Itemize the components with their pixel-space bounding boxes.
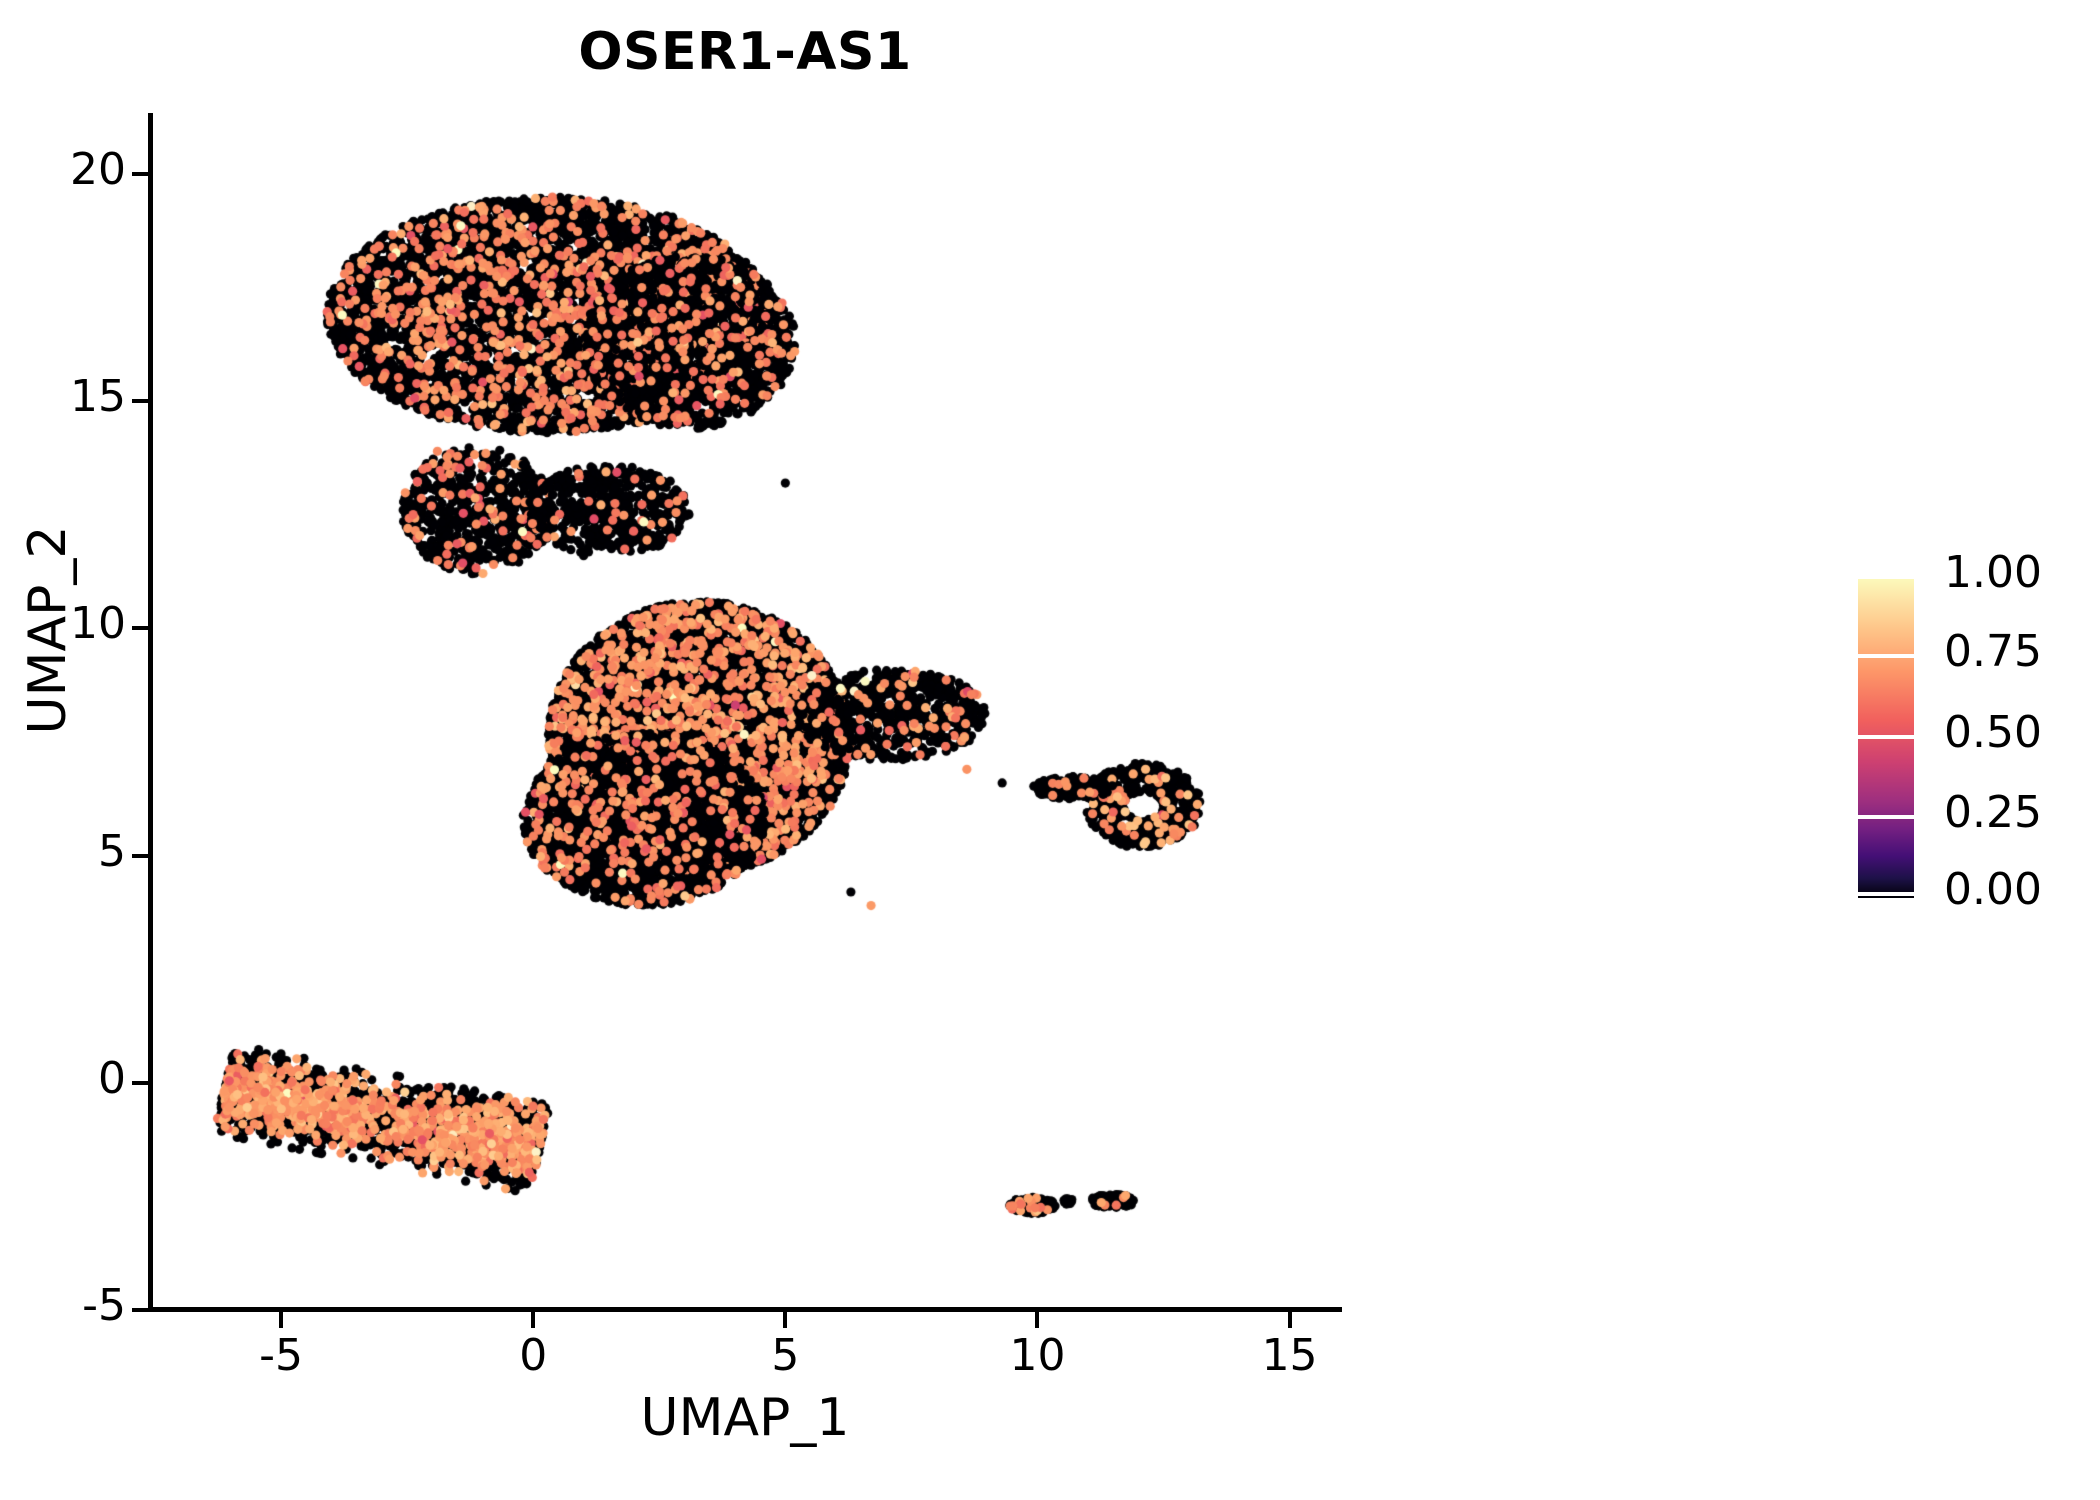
y-tick-mark <box>132 626 148 630</box>
y-tick-label: 0 <box>98 1053 126 1104</box>
x-tick-label: 10 <box>977 1330 1097 1381</box>
colorbar-tick-label: 0.75 <box>1944 626 2042 677</box>
colorbar-tick-mark <box>1858 735 1914 739</box>
colorbar <box>1858 575 1914 898</box>
scatter-plot-area <box>150 115 1340 1310</box>
x-tick-label: 0 <box>473 1330 593 1381</box>
y-tick-mark <box>132 1081 148 1085</box>
x-tick-mark <box>279 1312 283 1328</box>
y-tick-label: 10 <box>70 598 126 649</box>
y-axis-spine <box>148 113 153 1312</box>
y-axis-label: UMAP_2 <box>18 320 78 940</box>
x-tick-mark <box>531 1312 535 1328</box>
colorbar-tick-label: 1.00 <box>1944 547 2042 598</box>
colorbar-tick-mark <box>1858 575 1914 579</box>
y-tick-label: 15 <box>70 371 126 422</box>
x-tick-label: -5 <box>221 1330 341 1381</box>
y-tick-label: 5 <box>98 826 126 877</box>
colorbar-tick-label: 0.00 <box>1944 864 2042 915</box>
figure-root: OSER1-AS1 20151050-5 -5051015 UMAP_2 UMA… <box>0 0 2100 1500</box>
colorbar-tick-mark <box>1858 815 1914 819</box>
y-tick-label: -5 <box>82 1280 126 1331</box>
colorbar-tick-mark <box>1858 654 1914 658</box>
x-tick-label: 15 <box>1230 1330 1350 1381</box>
x-tick-mark <box>783 1312 787 1328</box>
colorbar-tick-mark <box>1858 892 1914 896</box>
x-axis-label: UMAP_1 <box>150 1388 1340 1448</box>
y-tick-mark <box>132 172 148 176</box>
y-tick-mark <box>132 399 148 403</box>
scatter-canvas <box>150 115 1340 1310</box>
x-tick-mark <box>1035 1312 1039 1328</box>
x-axis-spine <box>148 1307 1342 1312</box>
y-tick-mark <box>132 854 148 858</box>
colorbar-tick-label: 0.50 <box>1944 707 2042 758</box>
chart-title: OSER1-AS1 <box>0 22 1490 82</box>
x-tick-mark <box>1288 1312 1292 1328</box>
colorbar-tick-label: 0.25 <box>1944 787 2042 838</box>
x-tick-label: 5 <box>725 1330 845 1381</box>
y-tick-label: 20 <box>70 144 126 195</box>
y-tick-mark <box>132 1308 148 1312</box>
